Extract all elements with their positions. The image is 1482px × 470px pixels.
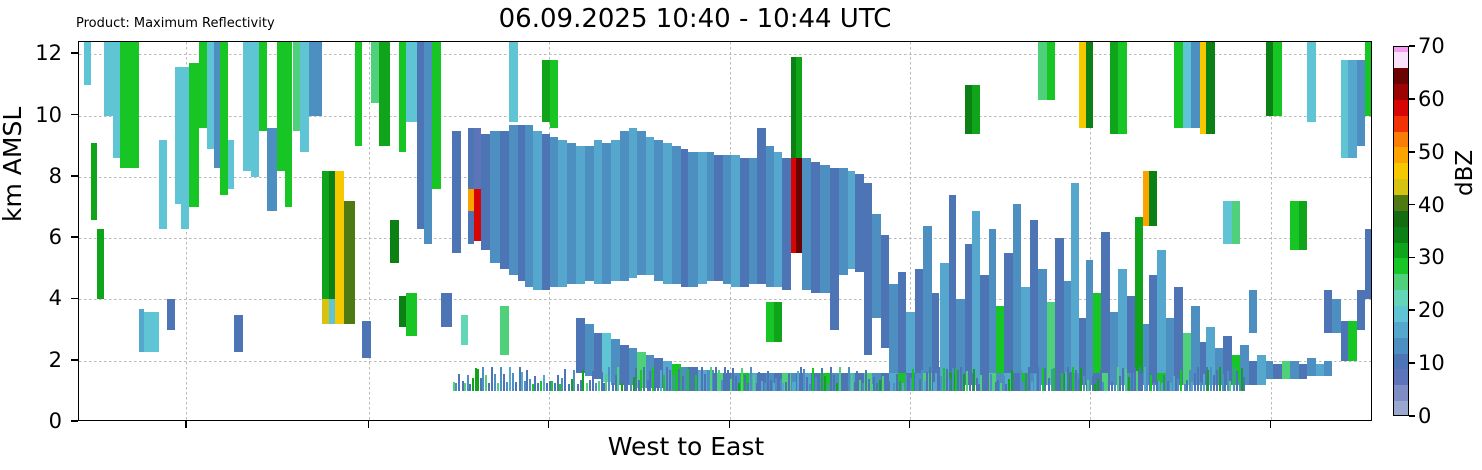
- data-cell: [1282, 361, 1290, 379]
- data-cell: [586, 383, 588, 391]
- data-column: [785, 42, 787, 421]
- data-column: [983, 42, 985, 421]
- data-column: [335, 42, 344, 421]
- data-column: [924, 42, 926, 421]
- data-cell: [899, 381, 901, 391]
- data-cell: [1080, 368, 1082, 392]
- data-column: [144, 42, 160, 421]
- data-cell: [1227, 371, 1229, 391]
- data-cell: [1150, 375, 1152, 391]
- data-column: [986, 42, 988, 421]
- data-column: [833, 42, 835, 421]
- data-column: [660, 42, 662, 421]
- data-column: [809, 42, 811, 421]
- data-cell: [455, 383, 457, 392]
- y-axis-tick-label: 0: [22, 409, 62, 433]
- data-cell: [821, 368, 823, 392]
- data-cell: [1216, 370, 1218, 391]
- data-column: [1180, 42, 1182, 421]
- data-column: [856, 42, 858, 421]
- data-column: [933, 42, 935, 421]
- data-column: [344, 42, 354, 421]
- data-cell: [621, 383, 623, 391]
- data-column: [1034, 42, 1036, 421]
- colorbar-tick-label: 20: [1418, 298, 1445, 322]
- data-column: [1089, 42, 1091, 421]
- x-axis-tick: [548, 421, 550, 428]
- data-column: [406, 42, 416, 421]
- data-cell: [1324, 290, 1332, 333]
- data-column: [630, 42, 632, 421]
- data-column: [973, 42, 975, 421]
- data-column: [782, 42, 784, 421]
- data-cell: [571, 379, 573, 392]
- data-column: [554, 42, 556, 421]
- data-cell: [990, 374, 992, 391]
- data-column: [842, 42, 844, 421]
- data-cell: [1083, 376, 1085, 391]
- data-cell: [704, 374, 706, 391]
- data-cell: [842, 374, 844, 391]
- colorbar-tick-label: 70: [1418, 34, 1445, 58]
- colorbar-segment: [1394, 401, 1408, 416]
- radar-cross-section-figure: 06.09.2025 10:40 - 10:44 UTC Product: Ma…: [0, 0, 1482, 470]
- data-cell: [1058, 367, 1060, 391]
- data-column: [1243, 42, 1245, 421]
- data-cell: [1094, 384, 1096, 392]
- data-cell: [862, 383, 864, 391]
- data-column: [663, 42, 665, 421]
- data-column: [812, 42, 814, 421]
- data-column: [1163, 42, 1165, 421]
- data-column: [640, 42, 642, 421]
- data-column: [721, 42, 723, 421]
- colorbar-title: dBZ: [1452, 150, 1478, 196]
- data-cell: [251, 42, 259, 177]
- data-column: [1161, 42, 1163, 421]
- data-cell: [896, 374, 898, 391]
- data-column: [896, 42, 898, 421]
- data-column: [788, 42, 790, 421]
- data-cell: [1243, 377, 1245, 391]
- data-cell: [595, 383, 597, 391]
- data-cell: [960, 367, 962, 391]
- data-cell: [1108, 367, 1110, 391]
- data-column: [199, 42, 207, 421]
- data-cell: [1161, 383, 1163, 391]
- data-column: [537, 42, 539, 421]
- data-cell: [764, 383, 766, 391]
- data-cell: [1290, 201, 1299, 250]
- data-column: [907, 42, 909, 421]
- data-column: [1125, 42, 1127, 421]
- data-column: [890, 42, 892, 421]
- data-column: [543, 42, 545, 421]
- reflectivity-data: [79, 42, 1371, 420]
- data-cell: [267, 128, 277, 211]
- data-cell: [868, 379, 870, 391]
- data-cell: [815, 377, 817, 392]
- data-cell: [663, 375, 665, 392]
- data-column: [704, 42, 706, 421]
- data-cell: [879, 380, 881, 391]
- data-cell: [1061, 373, 1063, 391]
- colorbar-segment: [1394, 179, 1408, 195]
- data-cell: [362, 321, 371, 358]
- data-cell: [1131, 368, 1133, 391]
- data-column: [1191, 42, 1193, 421]
- data-column: [494, 42, 496, 421]
- data-cell: [390, 220, 399, 263]
- colorbar-segment: [1394, 385, 1408, 401]
- data-cell: [1097, 379, 1099, 391]
- data-column: [830, 42, 832, 421]
- data-cell: [933, 382, 935, 391]
- data-column: [732, 42, 734, 421]
- data-column: [701, 42, 703, 421]
- data-column: [899, 42, 901, 421]
- data-column: [469, 42, 471, 421]
- data-column: [949, 42, 951, 421]
- data-column: [1207, 42, 1209, 421]
- data-cell: [682, 376, 684, 391]
- data-cell: [770, 380, 772, 391]
- data-cell: [692, 367, 694, 391]
- data-column: [432, 42, 441, 421]
- x-axis-tick: [185, 421, 187, 428]
- data-column: [1213, 42, 1215, 421]
- colorbar-segment: [1394, 227, 1408, 243]
- colorbar-segment: [1394, 369, 1408, 385]
- data-cell: [441, 293, 451, 327]
- data-cell: [643, 367, 645, 391]
- data-column: [1000, 42, 1002, 421]
- data-column: [775, 42, 777, 421]
- data-cell: [1213, 375, 1215, 391]
- data-column: [540, 42, 542, 421]
- data-column: [1094, 42, 1096, 421]
- data-column: [1219, 42, 1221, 421]
- data-cell: [983, 383, 985, 391]
- y-axis-tick-label: 4: [22, 286, 62, 310]
- data-column: [1175, 42, 1177, 421]
- data-column: [1102, 42, 1104, 421]
- data-column: [1150, 42, 1152, 421]
- data-column: [1236, 42, 1238, 421]
- data-column: [649, 42, 651, 421]
- data-column: [1177, 42, 1179, 421]
- data-column: [803, 42, 805, 421]
- data-cell: [371, 42, 379, 103]
- data-column: [488, 42, 490, 421]
- data-cell: [540, 381, 542, 392]
- data-column: [859, 42, 861, 421]
- data-cell: [519, 367, 521, 392]
- data-cell: [608, 367, 610, 391]
- data-column: [673, 42, 675, 421]
- data-cell: [718, 370, 720, 391]
- data-column: [885, 42, 887, 421]
- data-cell: [833, 375, 835, 391]
- data-column: [1067, 42, 1069, 421]
- data-column: [761, 42, 763, 421]
- data-column: [453, 42, 455, 421]
- data-column: [1048, 42, 1050, 421]
- data-column: [654, 42, 656, 421]
- data-column: [792, 42, 794, 421]
- y-axis-tick-label: 8: [22, 164, 62, 188]
- data-column: [997, 42, 999, 421]
- data-cell: [1158, 381, 1160, 391]
- data-cell: [285, 42, 293, 207]
- data-column: [744, 42, 746, 421]
- data-cell: [1031, 382, 1033, 391]
- data-cell: [649, 371, 651, 391]
- data-cell: [482, 367, 484, 391]
- data-column: [929, 42, 931, 421]
- data-column: [1241, 42, 1243, 421]
- data-column: [952, 42, 954, 421]
- data-cell: [559, 384, 561, 392]
- data-column: [940, 42, 942, 421]
- data-column: [839, 42, 841, 421]
- data-column: [689, 42, 691, 421]
- data-cell: [469, 384, 471, 392]
- data-column: [509, 42, 511, 421]
- data-cell: [561, 378, 563, 391]
- data-cell: [1065, 372, 1067, 392]
- data-cell: [1056, 371, 1058, 391]
- data-column: [969, 42, 971, 421]
- data-cell: [788, 373, 790, 392]
- data-column: [1144, 42, 1146, 421]
- data-cell: [750, 367, 752, 391]
- data-cell: [803, 369, 805, 392]
- data-cell: [1273, 42, 1282, 116]
- data-cell: [669, 370, 671, 392]
- data-column: [371, 42, 379, 421]
- data-column: [580, 42, 582, 421]
- data-cell: [966, 371, 968, 391]
- data-cell: [1180, 370, 1182, 392]
- data-cell: [1184, 384, 1186, 392]
- y-axis-tick: [71, 298, 78, 300]
- data-column: [758, 42, 760, 421]
- data-column: [827, 42, 829, 421]
- x-axis-tick: [1089, 421, 1091, 428]
- data-cell: [1186, 380, 1188, 392]
- colorbar-segment: [1394, 211, 1408, 227]
- data-column: [1087, 42, 1089, 421]
- data-cell: [926, 372, 928, 391]
- y-axis-tick-label: 12: [22, 41, 62, 65]
- data-cell: [924, 381, 926, 391]
- data-cell: [589, 380, 591, 391]
- data-column: [912, 42, 914, 421]
- data-column: [589, 42, 591, 421]
- data-column: [441, 42, 451, 421]
- data-cell: [1316, 364, 1324, 376]
- data-cell: [1044, 368, 1046, 391]
- data-cell: [603, 383, 605, 392]
- data-cell: [912, 369, 914, 391]
- data-cell: [986, 382, 988, 392]
- data-cell: [615, 375, 617, 391]
- data-cell: [534, 376, 536, 391]
- data-cell: [735, 376, 737, 391]
- data-column: [526, 42, 528, 421]
- data-column: [865, 42, 867, 421]
- data-column: [1158, 42, 1160, 421]
- data-cell: [710, 367, 712, 391]
- data-column: [836, 42, 838, 421]
- data-cell: [1102, 382, 1104, 392]
- data-column: [778, 42, 780, 421]
- data-column: [764, 42, 766, 421]
- data-cell: [800, 367, 802, 391]
- data-cell: [949, 377, 951, 392]
- colorbar-tick: [1409, 309, 1415, 311]
- data-cell: [488, 383, 490, 391]
- data-cell: [1299, 201, 1307, 250]
- data-column: [167, 42, 175, 421]
- data-column: [1266, 42, 1274, 421]
- data-cell: [827, 383, 829, 391]
- data-column: [577, 42, 579, 421]
- data-cell: [1017, 380, 1019, 392]
- data-cell: [1122, 368, 1124, 391]
- data-cell: [873, 377, 875, 392]
- data-column: [417, 42, 425, 421]
- data-column: [727, 42, 729, 421]
- data-column: [990, 42, 992, 421]
- data-cell: [189, 63, 199, 207]
- data-column: [362, 42, 371, 421]
- data-column: [1025, 42, 1027, 421]
- data-cell: [744, 375, 746, 391]
- data-column: [770, 42, 772, 421]
- data-column: [534, 42, 536, 421]
- data-column: [1233, 42, 1235, 421]
- data-cell: [797, 371, 799, 391]
- data-column: [902, 42, 904, 421]
- data-cell: [1167, 381, 1169, 392]
- data-column: [657, 42, 659, 421]
- data-cell: [633, 377, 635, 392]
- data-cell: [1067, 367, 1069, 392]
- data-cell: [406, 293, 416, 336]
- data-column: [1139, 42, 1141, 421]
- data-cell: [199, 42, 207, 128]
- data-column: [399, 42, 407, 421]
- data-column: [1061, 42, 1063, 421]
- data-column: [1249, 42, 1257, 421]
- data-cell: [277, 42, 285, 171]
- data-column: [113, 42, 121, 421]
- colorbar-segment: [1394, 306, 1408, 322]
- data-column: [707, 42, 709, 421]
- data-column: [862, 42, 864, 421]
- data-cell: [494, 374, 496, 391]
- data-cell: [732, 368, 734, 391]
- data-column: [251, 42, 259, 421]
- data-cell: [580, 380, 582, 392]
- data-column: [234, 42, 243, 421]
- data-cell: [497, 383, 499, 392]
- data-cell: [630, 384, 632, 392]
- data-column: [1056, 42, 1058, 421]
- data-cell: [957, 370, 959, 391]
- data-cell: [792, 382, 794, 391]
- colorbar-tick: [1409, 151, 1415, 153]
- colorbar-tick: [1409, 204, 1415, 206]
- data-column: [626, 42, 628, 421]
- data-column: [692, 42, 694, 421]
- data-column: [695, 42, 697, 421]
- data-column: [1022, 42, 1024, 421]
- data-cell: [839, 367, 841, 391]
- data-column: [506, 42, 508, 421]
- data-cell: [399, 42, 407, 152]
- data-cell: [992, 382, 994, 391]
- data-cell: [1299, 364, 1307, 379]
- data-cell: [893, 383, 895, 392]
- data-column: [612, 42, 614, 421]
- data-column: [735, 42, 737, 421]
- data-column: [669, 42, 671, 421]
- data-column: [300, 42, 309, 421]
- data-column: [1072, 42, 1074, 421]
- colorbar: [1393, 46, 1409, 416]
- product-label: Product: Maximum Reflectivity: [76, 16, 275, 31]
- data-cell: [907, 384, 909, 392]
- data-column: [491, 42, 493, 421]
- data-column: [485, 42, 487, 421]
- data-cell: [1125, 369, 1127, 392]
- data-cell: [836, 383, 838, 391]
- data-cell: [462, 381, 464, 391]
- data-cell: [509, 367, 511, 391]
- data-column: [916, 42, 918, 421]
- data-cell: [1210, 367, 1212, 391]
- data-column: [1008, 42, 1010, 421]
- data-column: [1065, 42, 1067, 421]
- data-cell: [724, 367, 726, 391]
- data-cell: [910, 378, 912, 391]
- data-cell: [1072, 367, 1074, 391]
- data-cell: [876, 383, 878, 391]
- data-cell: [1042, 368, 1044, 391]
- data-column: [879, 42, 881, 421]
- data-column: [1324, 42, 1332, 421]
- data-cell: [946, 369, 948, 392]
- data-column: [678, 42, 680, 421]
- data-cell: [812, 368, 814, 391]
- data-column: [1257, 42, 1266, 421]
- data-cell: [902, 383, 904, 391]
- data-cell: [851, 374, 853, 392]
- data-cell: [929, 367, 931, 392]
- data-column: [608, 42, 610, 421]
- data-column: [1011, 42, 1013, 421]
- data-column: [521, 42, 523, 421]
- data-cell: [727, 370, 729, 392]
- data-cell: [617, 367, 619, 391]
- data-cell: [775, 378, 777, 392]
- data-cell: [678, 369, 680, 391]
- data-column: [277, 42, 285, 421]
- data-column: [1184, 42, 1186, 421]
